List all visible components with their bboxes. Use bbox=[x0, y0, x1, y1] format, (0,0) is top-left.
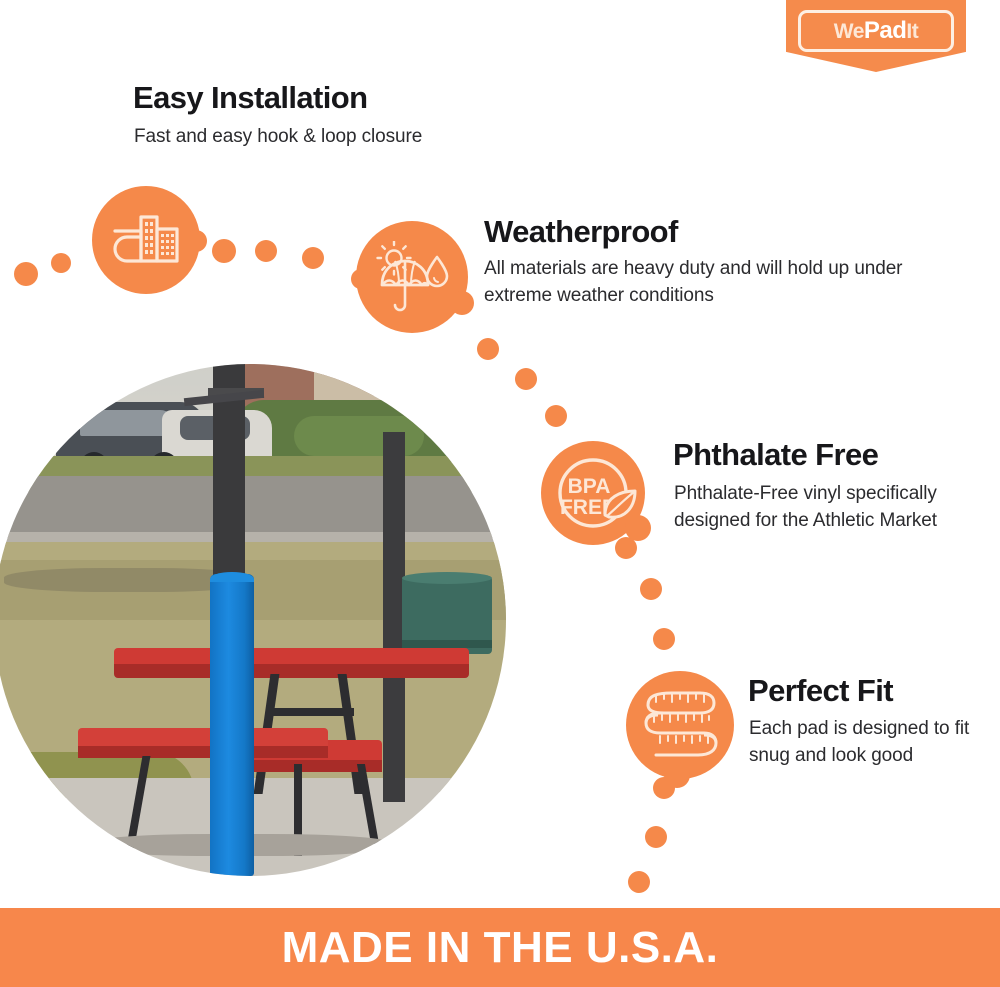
photo-table-top-edge bbox=[114, 664, 469, 678]
feature-description-easy-installation: Fast and easy hook & loop closure bbox=[134, 124, 534, 151]
logo-text-we: We bbox=[834, 20, 864, 43]
trail-dot bbox=[302, 247, 324, 269]
trail-dot bbox=[14, 262, 38, 286]
photo-bench-near-edge bbox=[78, 746, 328, 758]
feature-title-weatherproof: Weatherproof bbox=[484, 214, 678, 250]
bpa-label: BPA bbox=[568, 475, 611, 498]
trail-dot bbox=[515, 368, 537, 390]
trail-dot bbox=[212, 239, 236, 263]
feature-title-perfect-fit: Perfect Fit bbox=[748, 673, 893, 709]
photo-trash-barrel-rim bbox=[402, 572, 492, 584]
umbrella-sun-raindrop-glyph bbox=[374, 241, 450, 313]
bpa-free-leaf-glyph: BPA FREE bbox=[547, 447, 639, 539]
icon-blob bbox=[351, 269, 371, 289]
hook-and-loop-strap-icon bbox=[92, 186, 200, 294]
trail-dot bbox=[51, 253, 71, 273]
measuring-tape-icon bbox=[626, 671, 734, 779]
photo-road bbox=[0, 476, 506, 538]
photo-blue-pole-pad bbox=[210, 574, 254, 876]
trail-dot bbox=[477, 338, 499, 360]
made-in-usa-text: MADE IN THE U.S.A. bbox=[282, 923, 719, 973]
photo-blue-pole-pad-top bbox=[210, 572, 254, 582]
umbrella-sun-raindrop-icon bbox=[356, 221, 468, 333]
logo-text-it: It bbox=[906, 20, 918, 43]
bpa-free-leaf-icon: BPA FREE bbox=[541, 441, 645, 545]
infographic-page: WePadIt Easy Installation Fast and easy … bbox=[0, 0, 1000, 987]
feature-description-phthalate-free: Phthalate-Free vinyl specifically design… bbox=[674, 481, 944, 535]
icon-blob bbox=[450, 291, 474, 315]
trail-dot bbox=[640, 578, 662, 600]
product-photo bbox=[0, 364, 506, 876]
feature-description-perfect-fit: Each pad is designed to fit snug and loo… bbox=[749, 716, 979, 770]
photo-trash-barrel-band bbox=[402, 640, 492, 648]
logo-text: WePadIt bbox=[834, 19, 918, 43]
icon-blob bbox=[664, 762, 690, 788]
logo-text-pad: Pad bbox=[864, 17, 907, 44]
brand-logo[interactable]: WePadIt bbox=[786, 0, 966, 72]
trail-dot bbox=[628, 871, 650, 893]
feature-description-weatherproof: All materials are heavy duty and will ho… bbox=[484, 256, 904, 310]
trail-dot bbox=[653, 628, 675, 650]
trail-dot bbox=[255, 240, 277, 262]
trail-dot bbox=[645, 826, 667, 848]
logo-plate: WePadIt bbox=[798, 10, 954, 52]
feature-title-easy-installation: Easy Installation bbox=[133, 80, 367, 116]
measuring-tape-glyph bbox=[638, 685, 722, 765]
icon-blob bbox=[185, 230, 207, 252]
trail-dot bbox=[545, 405, 567, 427]
hook-and-loop-strap-glyph bbox=[111, 211, 181, 269]
photo-table-crossbar bbox=[270, 708, 354, 716]
made-in-usa-banner: MADE IN THE U.S.A. bbox=[0, 908, 1000, 987]
feature-title-phthalate-free: Phthalate Free bbox=[673, 437, 878, 473]
